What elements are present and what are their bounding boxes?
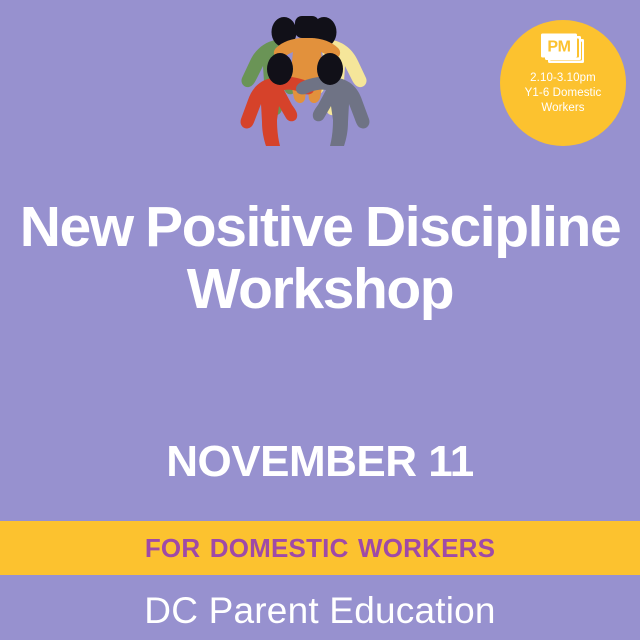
audience-banner-text: FOR DOMESTIC WORKERS bbox=[145, 533, 495, 564]
page-title-line-2: Workshop bbox=[0, 258, 640, 320]
badge-audience: Workers bbox=[541, 101, 584, 116]
people-circle-logo bbox=[228, 6, 384, 148]
page-title: New Positive Discipline Workshop bbox=[0, 196, 640, 320]
event-date: NOVEMBER 11 bbox=[0, 437, 640, 487]
pm-icon: PM bbox=[540, 33, 586, 65]
badge-year-group: Y1-6 Domestic bbox=[525, 86, 602, 101]
session-badge: PM 2.10-3.10pm Y1-6 Domestic Workers bbox=[500, 20, 626, 146]
svg-text:PM: PM bbox=[547, 38, 570, 55]
badge-time: 2.10-3.10pm bbox=[530, 71, 596, 86]
poster-canvas: PM 2.10-3.10pm Y1-6 Domestic Workers New… bbox=[0, 0, 640, 640]
organisation-name: DC Parent Education bbox=[0, 589, 640, 633]
audience-banner: FOR DOMESTIC WORKERS bbox=[0, 521, 640, 575]
page-title-line-1: New Positive Discipline bbox=[0, 196, 640, 258]
